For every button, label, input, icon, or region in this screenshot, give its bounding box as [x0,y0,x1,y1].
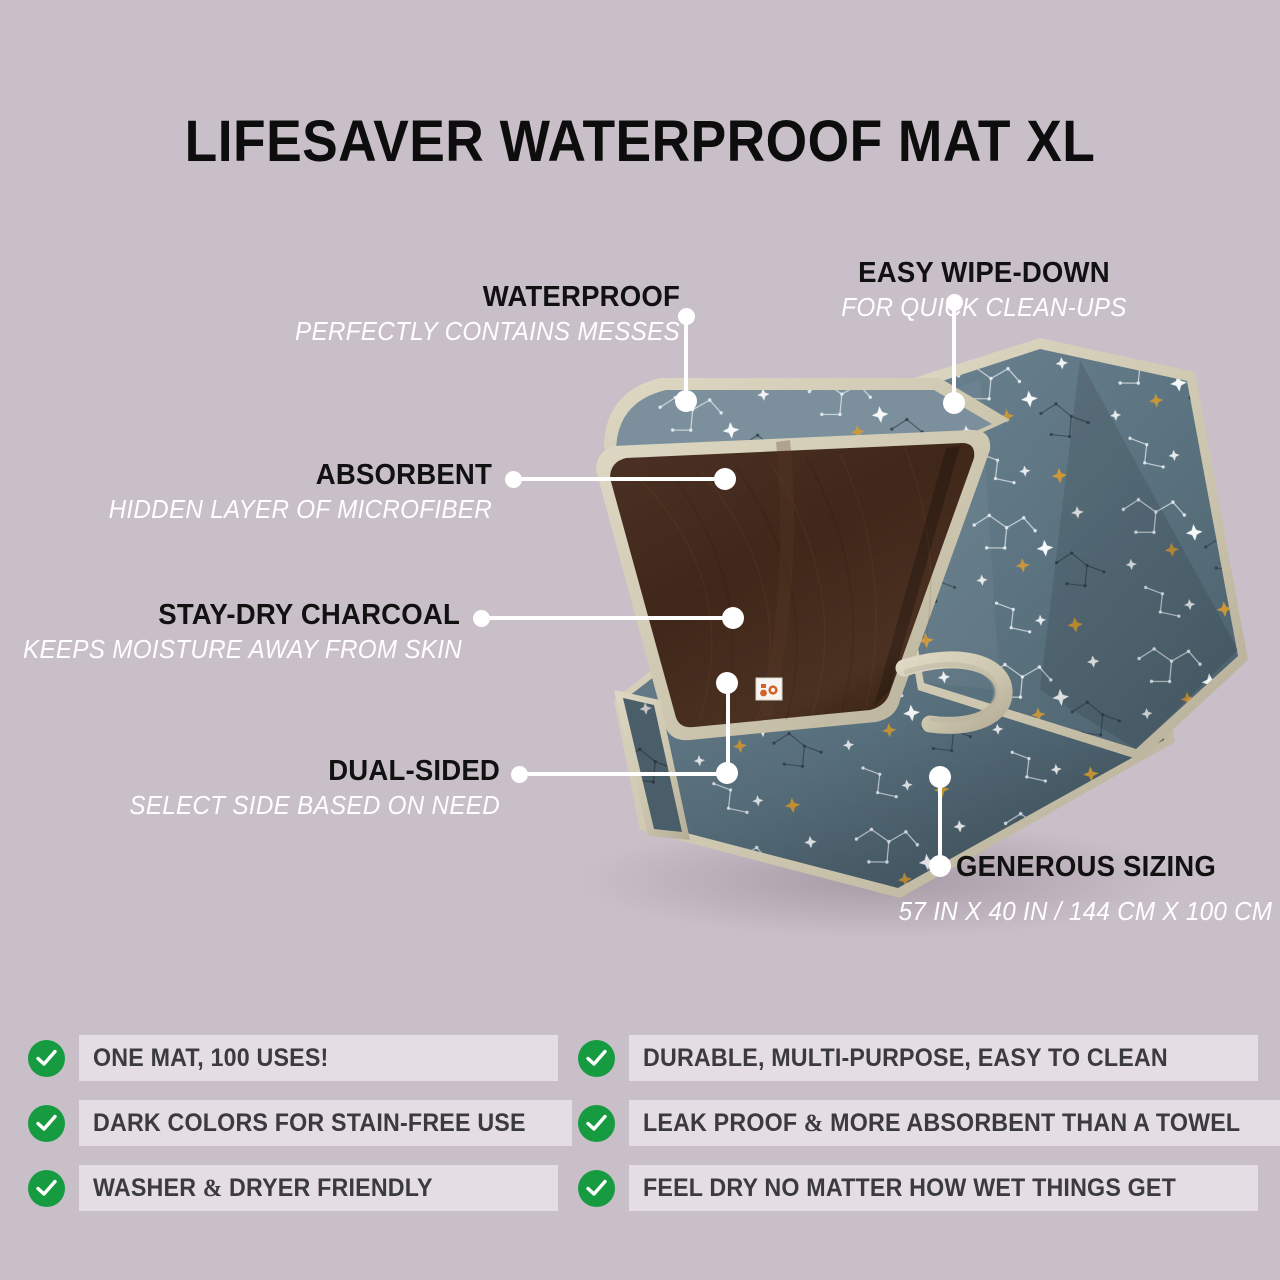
feature-column-left: ONE MAT, 100 USES! DARK COLORS FOR STAIN… [28,1035,558,1230]
callout-absorbent-title: ABSORBENT [44,460,492,490]
callout-easy-wipe-down: EASY WIPE-DOWN FOR QUICK CLEAN-UPS [700,258,1268,324]
feature-item: LEAK PROOF & MORE ABSORBENT THAN A TOWEL [578,1100,1258,1146]
feature-label-pre: LEAK PROOF [643,1109,804,1137]
callout-generous-sizing: GENEROUS SIZING 57 IN X 40 IN / 144 CM X… [956,852,1276,882]
feature-pill: WASHER & DRYER FRIENDLY [79,1165,558,1211]
callout-waterproof-title: WATERPROOF [205,282,680,312]
feature-label: WASHER & DRYER FRIENDLY [93,1174,433,1203]
callout-absorbent-subtitle: HIDDEN LAYER OF MICROFIBER [44,496,492,525]
feature-label-post: DRYER FRIENDLY [222,1174,432,1202]
feature-label: FEEL DRY NO MATTER HOW WET THINGS GET [643,1174,1176,1203]
feature-item: WASHER & DRYER FRIENDLY [28,1165,558,1211]
feature-item: DARK COLORS FOR STAIN-FREE USE [28,1100,558,1146]
brand-tag [756,678,782,700]
check-circle-icon [578,1170,615,1207]
feature-item: ONE MAT, 100 USES! [28,1035,558,1081]
callout-easy-wipe-down-title: EASY WIPE-DOWN [714,258,1254,288]
callout-waterproof: WATERPROOF PERFECTLY CONTAINS MESSES [180,282,680,348]
callout-absorbent: ABSORBENT HIDDEN LAYER OF MICROFIBER [20,460,492,526]
feature-pill: FEEL DRY NO MATTER HOW WET THINGS GET [629,1165,1258,1211]
feature-pill: DURABLE, MULTI-PURPOSE, EASY TO CLEAN [629,1035,1258,1081]
callout-generous-sizing-title: GENEROUS SIZING [956,852,1260,882]
feature-label-pre: WASHER [93,1174,203,1202]
feature-item: FEEL DRY NO MATTER HOW WET THINGS GET [578,1165,1258,1211]
infographic-canvas: LIFESAVER WATERPROOF MAT XL [0,0,1280,1280]
callout-waterproof-subtitle: PERFECTLY CONTAINS MESSES [205,318,680,347]
callout-dual-sided-title: DUAL-SIDED [35,756,501,786]
feature-label: LEAK PROOF & MORE ABSORBENT THAN A TOWEL [643,1109,1240,1138]
feature-label: ONE MAT, 100 USES! [93,1044,328,1073]
feature-pill: LEAK PROOF & MORE ABSORBENT THAN A TOWEL [629,1100,1280,1146]
ampersand: & [804,1110,824,1137]
feature-pill: DARK COLORS FOR STAIN-FREE USE [79,1100,572,1146]
callout-generous-sizing-subtitle: 57 IN X 40 IN / 144 CM X 100 CM [898,898,1272,927]
feature-label-post: MORE ABSORBENT THAN A TOWEL [823,1109,1240,1137]
check-circle-icon [578,1040,615,1077]
callout-stay-dry-charcoal: STAY-DRY CHARCOAL KEEPS MOISTURE AWAY FR… [0,600,460,666]
callout-easy-wipe-down-subtitle: FOR QUICK CLEAN-UPS [714,294,1254,323]
feature-checklist: ONE MAT, 100 USES! DARK COLORS FOR STAIN… [0,1035,1280,1235]
check-circle-icon [578,1105,615,1142]
callout-dual-sided: DUAL-SIDED SELECT SIDE BASED ON NEED [10,756,500,822]
callout-dual-sided-subtitle: SELECT SIDE BASED ON NEED [35,792,501,821]
feature-label: DARK COLORS FOR STAIN-FREE USE [93,1109,526,1138]
ampersand: & [203,1175,223,1202]
callout-stay-dry-charcoal-title: STAY-DRY CHARCOAL [23,600,460,630]
check-circle-icon [28,1040,65,1077]
feature-label: DURABLE, MULTI-PURPOSE, EASY TO CLEAN [643,1044,1168,1073]
check-circle-icon [28,1170,65,1207]
feature-column-right: DURABLE, MULTI-PURPOSE, EASY TO CLEAN LE… [578,1035,1258,1230]
check-circle-icon [28,1105,65,1142]
feature-pill: ONE MAT, 100 USES! [79,1035,558,1081]
callout-stay-dry-charcoal-subtitle: KEEPS MOISTURE AWAY FROM SKIN [23,636,460,665]
feature-item: DURABLE, MULTI-PURPOSE, EASY TO CLEAN [578,1035,1258,1081]
